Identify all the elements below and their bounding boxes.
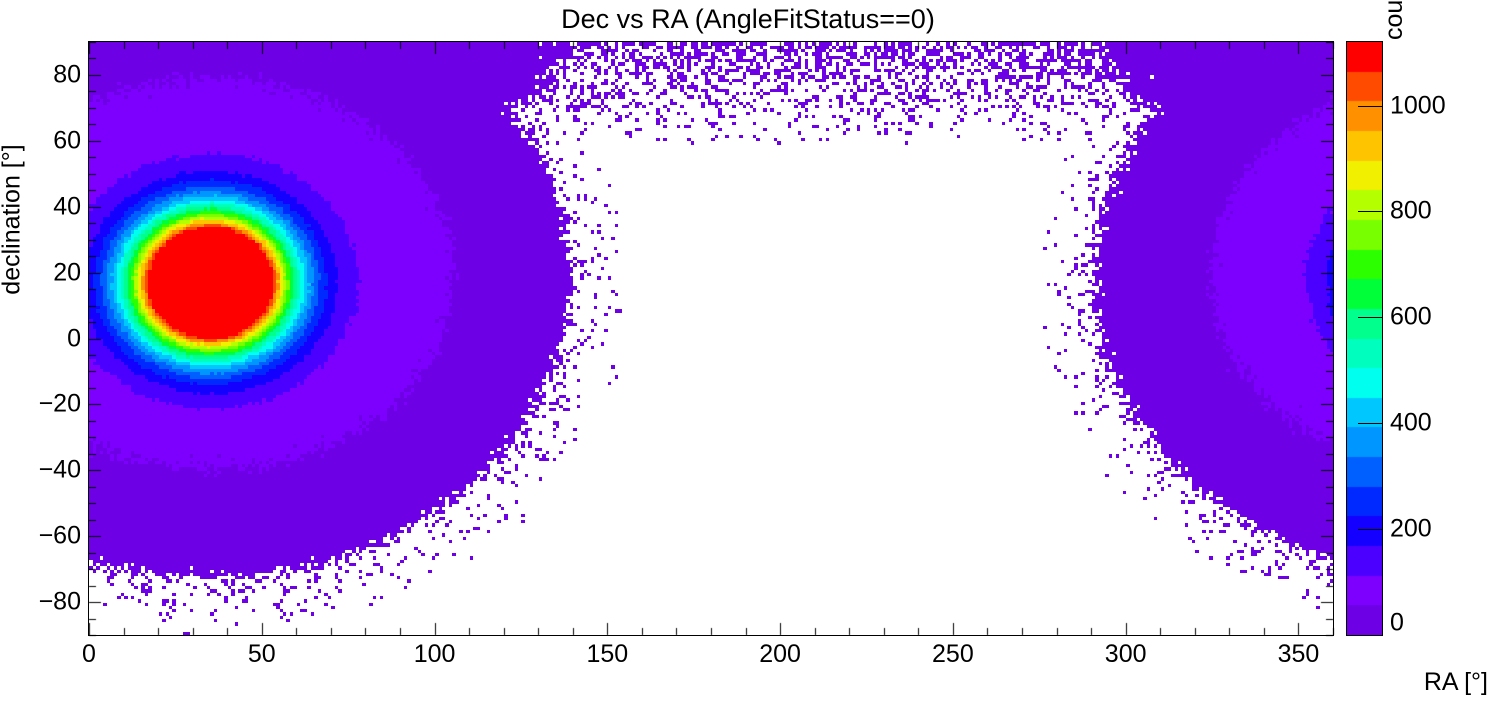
x-tick-label: 300: [1105, 640, 1147, 669]
x-tick-label: 200: [759, 640, 801, 669]
color-bar-tick: [1358, 635, 1382, 636]
y-tick-label: 80: [53, 60, 81, 89]
chart-title: Dec vs RA (AngleFitStatus==0): [0, 4, 1496, 35]
color-bar[interactable]: [1346, 41, 1383, 636]
x-tick-label: 150: [586, 640, 628, 669]
x-tick-label: 350: [1278, 640, 1320, 669]
color-bar-tick: [1358, 423, 1382, 424]
x-tick-label: 250: [932, 640, 974, 669]
y-tick-label: 20: [53, 258, 81, 287]
y-tick-label: 0: [67, 324, 81, 353]
y-axis-title: declination [°]: [0, 20, 27, 420]
y-tick-label: −80: [39, 588, 81, 617]
y-tick-label: −20: [39, 390, 81, 419]
x-tick-label: 100: [414, 640, 456, 669]
color-bar-tick-label: 0: [1390, 609, 1404, 638]
y-tick-label: 40: [53, 192, 81, 221]
color-bar-gradient: [1347, 42, 1382, 635]
plot-canvas-root: Dec vs RA (AngleFitStatus==0) RA [°] dec…: [0, 0, 1496, 722]
color-bar-tick: [1358, 211, 1382, 212]
color-bar-tick: [1358, 317, 1382, 318]
color-bar-tick-label: 600: [1390, 303, 1432, 332]
x-tick-label: 0: [82, 640, 96, 669]
x-axis-title: RA [°]: [1424, 668, 1488, 697]
y-tick-label: −60: [39, 522, 81, 551]
y-tick-label: 60: [53, 126, 81, 155]
color-bar-title: count: [1380, 0, 1409, 40]
plot-frame[interactable]: [88, 41, 1334, 636]
color-bar-tick: [1358, 529, 1382, 530]
heatmap-image[interactable]: [89, 42, 1333, 635]
color-bar-tick-label: 1000: [1390, 91, 1446, 120]
y-tick-label: −40: [39, 456, 81, 485]
color-bar-tick-label: 800: [1390, 197, 1432, 226]
x-tick-label: 50: [248, 640, 276, 669]
color-bar-tick: [1358, 106, 1382, 107]
color-bar-tick-label: 200: [1390, 515, 1432, 544]
color-bar-tick-label: 400: [1390, 409, 1432, 438]
